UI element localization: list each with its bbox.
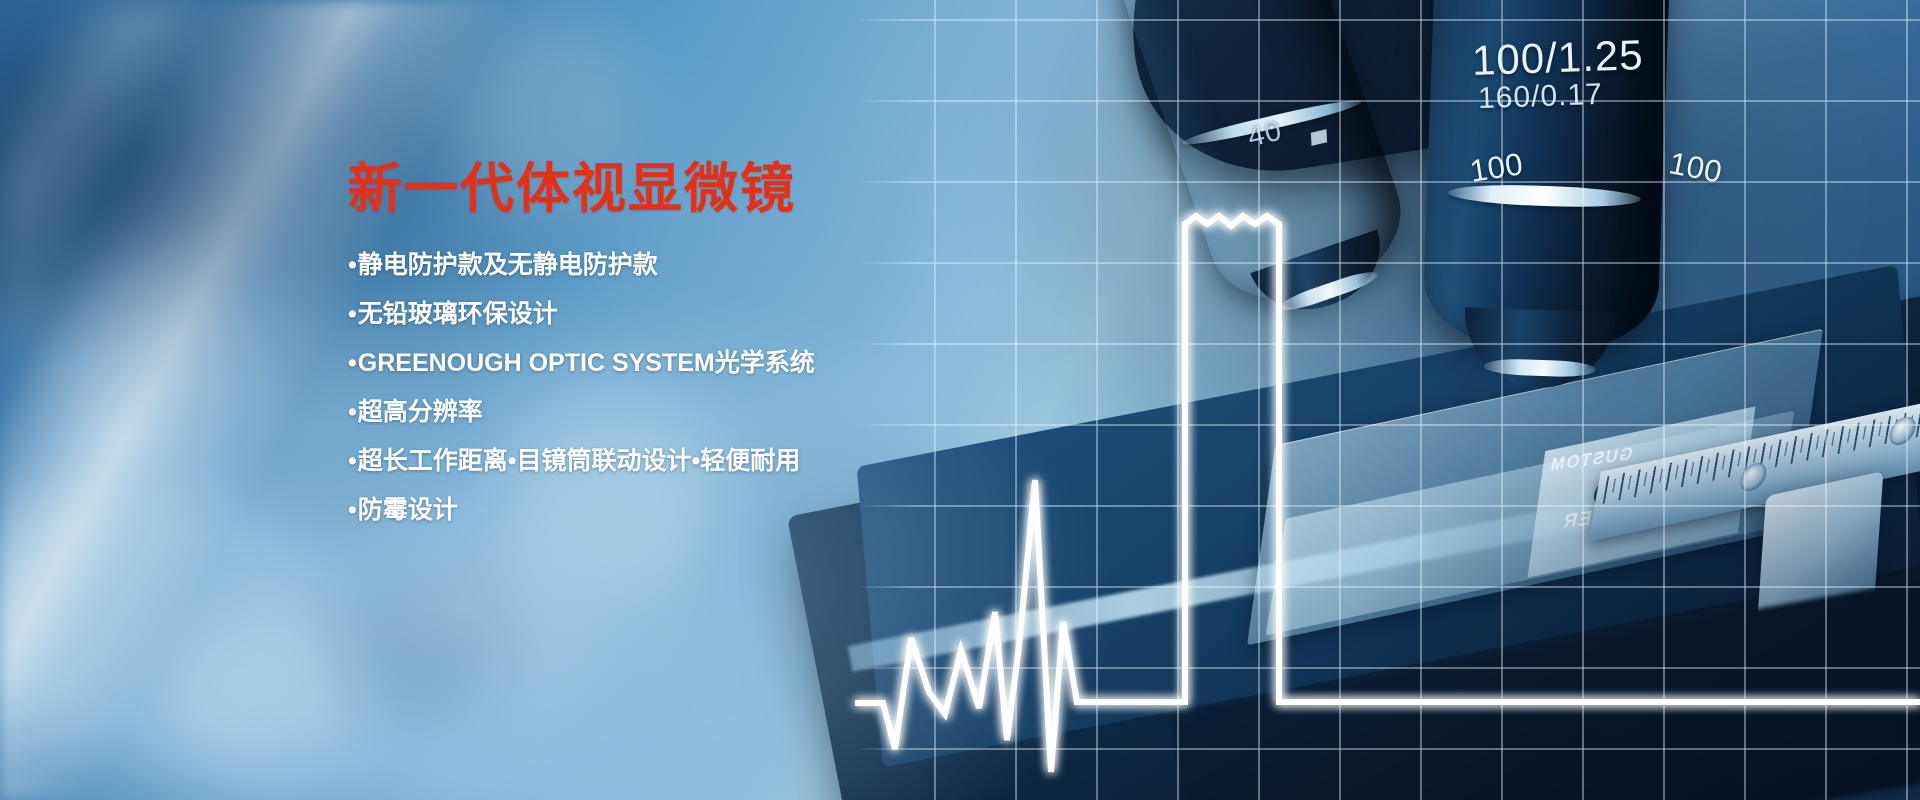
banner-copy: 新一代体视显微镜 •静电防护款及无静电防护款 •无铅玻璃环保设计 •GREENO… <box>348 160 968 547</box>
list-item: •超高分辨率 <box>348 400 968 425</box>
page-title: 新一代体视显微镜 <box>348 160 968 219</box>
list-item: •防霉设计 <box>348 498 968 523</box>
bullet-icon: • <box>348 400 357 425</box>
list-item: •静电防护款及无静电防护款 <box>348 253 968 278</box>
list-item: •超长工作距离•目镜筒联动设计•轻便耐用 <box>348 449 968 474</box>
bullet-icon: • <box>348 498 357 523</box>
feature-text: GREENOUGH OPTIC SYSTEM光学系统 <box>358 349 815 377</box>
feature-text: 超高分辨率 <box>358 398 483 426</box>
feature-text: 静电防护款及无静电防护款 <box>358 251 658 279</box>
bullet-icon: • <box>348 302 357 327</box>
feature-text: 超长工作距离•目镜筒联动设计•轻便耐用 <box>358 447 801 475</box>
feature-text: 防霉设计 <box>358 496 458 524</box>
bullet-icon: • <box>348 449 357 474</box>
list-item: •GREENOUGH OPTIC SYSTEM光学系统 <box>348 351 968 376</box>
bullet-icon: • <box>348 253 357 278</box>
feature-text: 无铅玻璃环保设计 <box>358 300 558 328</box>
feature-list: •静电防护款及无静电防护款 •无铅玻璃环保设计 •GREENOUGH OPTIC… <box>348 253 968 523</box>
hero-banner: GUSTOM POLLER 40 10 <box>0 0 1920 800</box>
bullet-icon: • <box>348 351 357 376</box>
list-item: •无铅玻璃环保设计 <box>348 302 968 327</box>
